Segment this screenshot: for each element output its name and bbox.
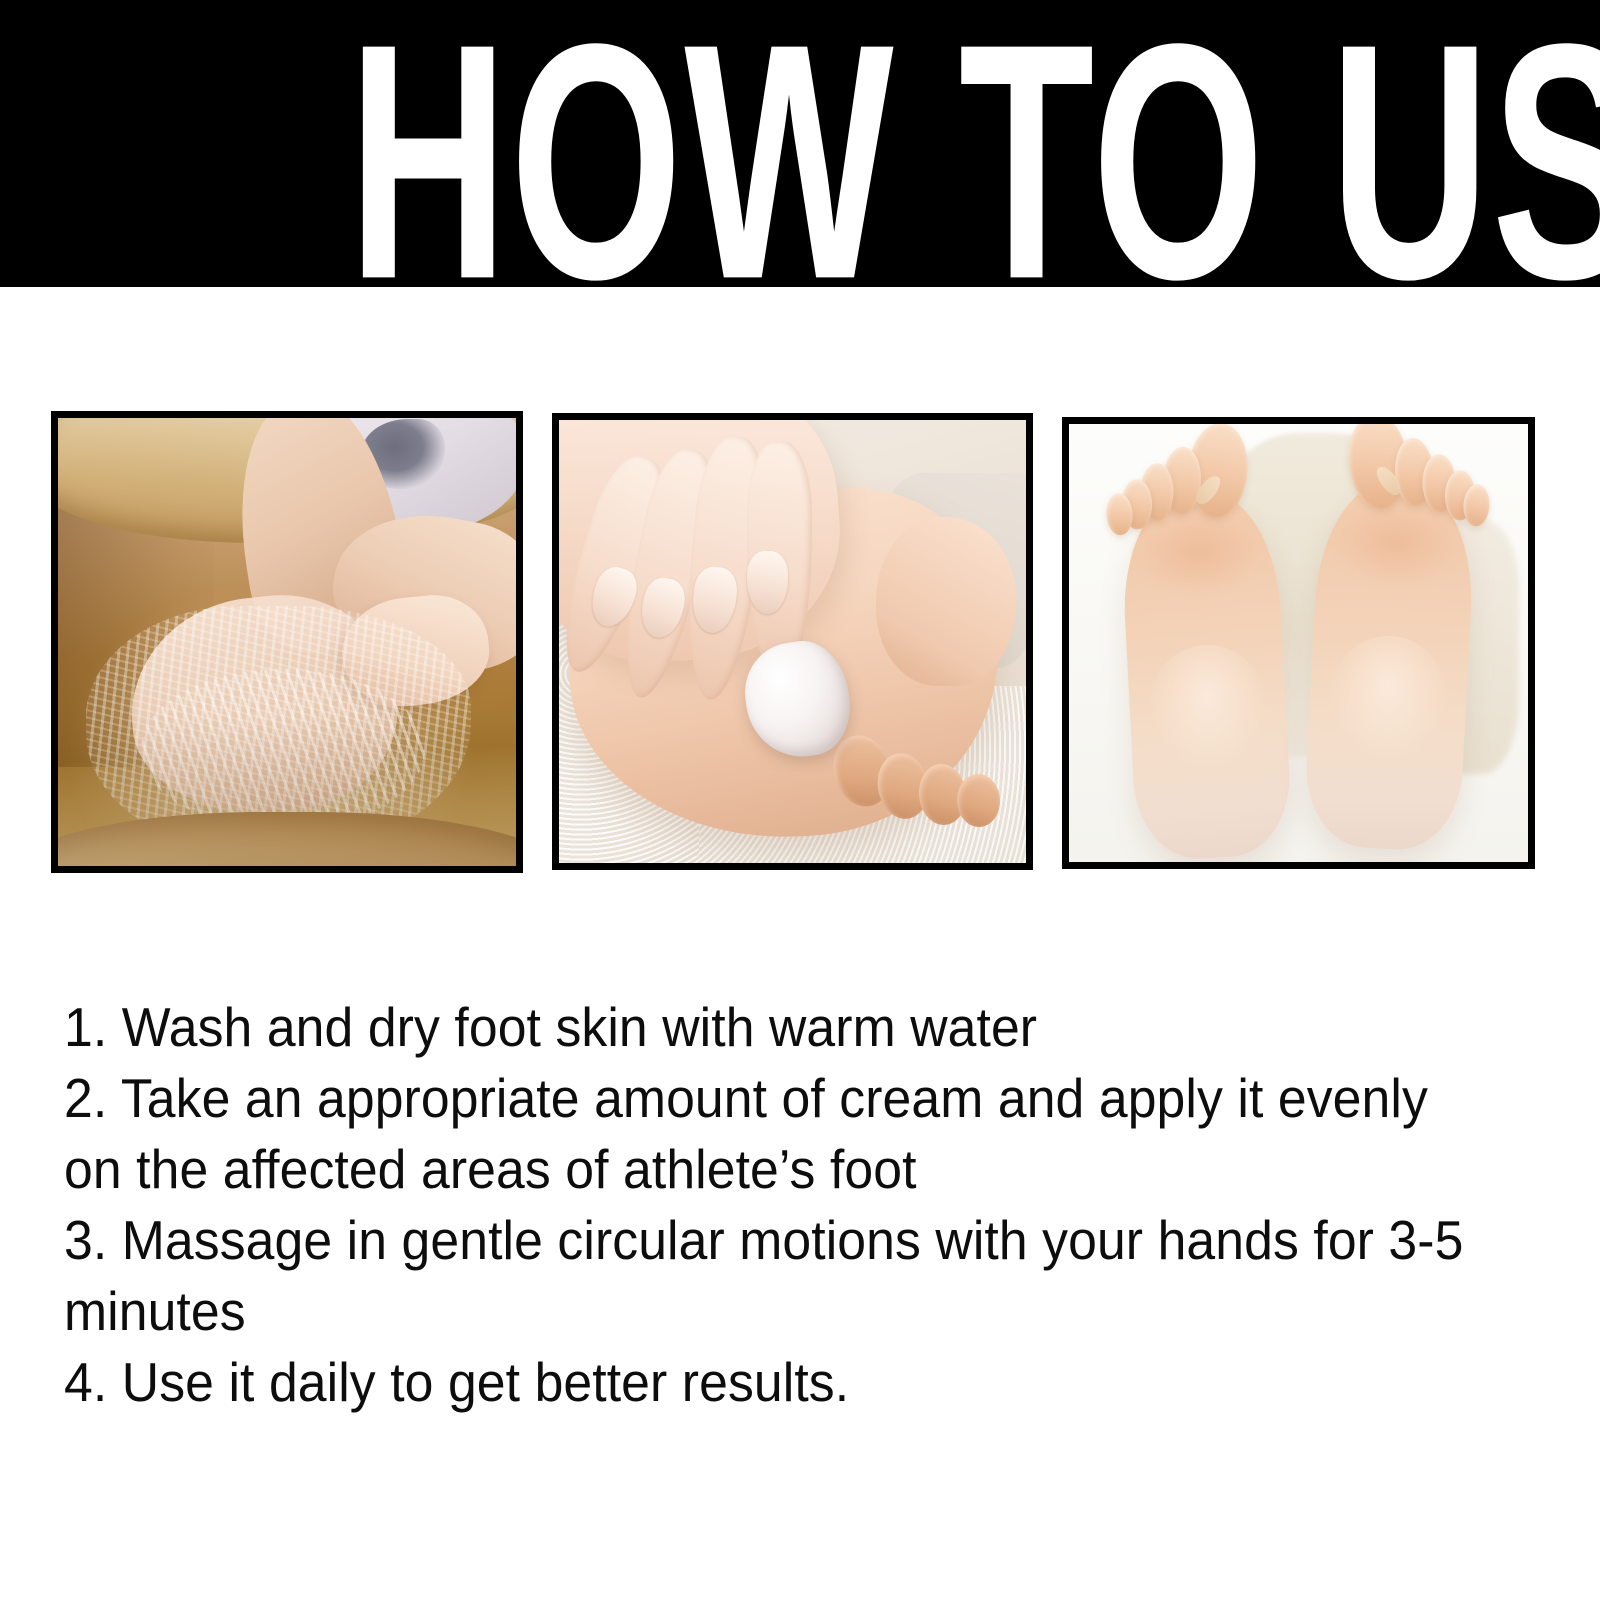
clean-feet-image [1069,424,1528,862]
heel [876,517,1016,685]
instruction-step-3: 3. Massage in gentle circular motions wi… [64,1205,1474,1347]
photo-strip [51,411,1535,873]
instruction-step-4: 4. Use it daily to get better results. [64,1347,1474,1418]
toes-group [830,721,1017,854]
right-foot-sole [1303,477,1478,853]
cream-application-image [559,420,1025,863]
toes-group [1310,424,1491,537]
instruction-step-1: 1. Wash and dry foot skin with warm wate… [64,992,1474,1063]
toe [956,774,1001,829]
how-to-use-infographic: HOW TO US [0,0,1600,1600]
toes-group [1106,424,1287,546]
photo-applying-cream-to-foot [552,413,1032,870]
arch [1146,641,1271,772]
arch [1326,632,1451,763]
instruction-step-2: 2. Take an appropriate amount of cream a… [64,1063,1474,1205]
tub-bottom-shadow [58,714,516,866]
foot-soak-image [58,418,516,866]
page-title: HOW TO US [348,0,1600,287]
header-banner: HOW TO US [0,0,1600,287]
photo-foot-soak-in-wooden-tub [51,411,523,873]
instructions-list: 1. Wash and dry foot skin with warm wate… [64,992,1474,1418]
photo-clean-feet-soles [1062,417,1535,869]
